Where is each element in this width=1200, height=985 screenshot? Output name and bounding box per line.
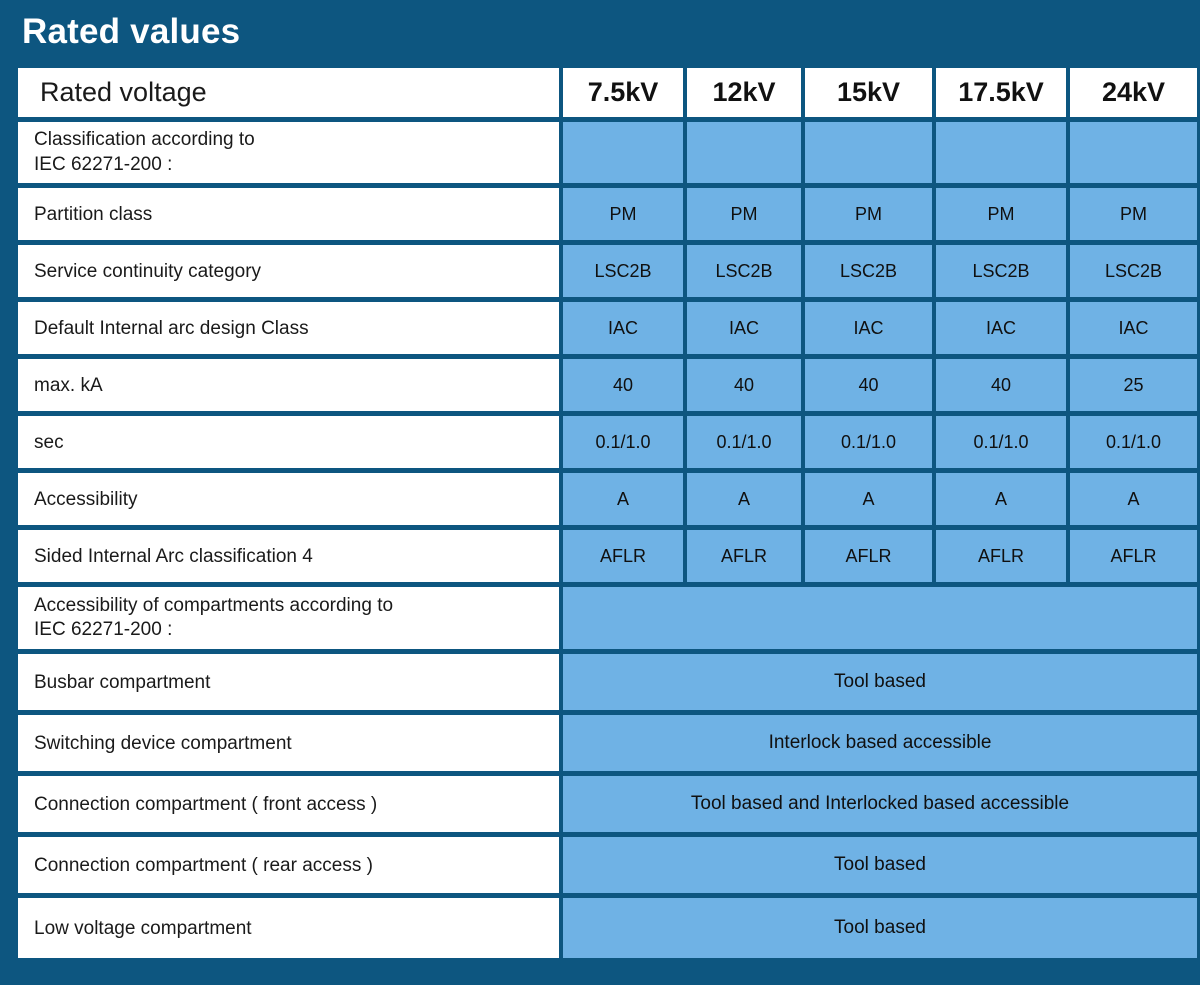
table-row: Partition class PM PM PM PM PM xyxy=(18,188,1197,240)
section-heading-row-accessibility-compartments: Accessibility of compartments according … xyxy=(18,587,1197,649)
cell-connection-front-access-value: Tool based and Interlocked based accessi… xyxy=(563,776,1197,832)
row-label-sec: sec xyxy=(18,416,559,468)
cell-accessibility-1: A xyxy=(563,473,683,525)
cell-max-ka-1: 40 xyxy=(563,359,683,411)
cell-sec-2: 0.1/1.0 xyxy=(687,416,801,468)
page-title: Rated values xyxy=(22,14,240,49)
section-heading-blank-4 xyxy=(936,122,1066,183)
cell-sec-5: 0.1/1.0 xyxy=(1070,416,1197,468)
table-header-row: Rated voltage 7.5kV 12kV 15kV 17.5kV 24k… xyxy=(18,68,1197,117)
section-heading-blank-1 xyxy=(563,122,683,183)
cell-sec-3: 0.1/1.0 xyxy=(805,416,932,468)
table-row: Service continuity category LSC2B LSC2B … xyxy=(18,245,1197,297)
cell-partition-class-4: PM xyxy=(936,188,1066,240)
cell-sided-arc-1: AFLR xyxy=(563,530,683,582)
column-header-2: 12kV xyxy=(687,68,801,117)
section-heading-line-2: IEC 62271-200 : xyxy=(34,153,559,178)
row-label-max-ka: max. kA xyxy=(18,359,559,411)
cell-arc-design-class-1: IAC xyxy=(563,302,683,354)
cell-arc-design-class-2: IAC xyxy=(687,302,801,354)
section-heading-blank-2 xyxy=(687,122,801,183)
cell-sec-4: 0.1/1.0 xyxy=(936,416,1066,468)
table-row: Accessibility A A A A A xyxy=(18,473,1197,525)
table-row: Default Internal arc design Class IAC IA… xyxy=(18,302,1197,354)
cell-max-ka-2: 40 xyxy=(687,359,801,411)
cell-service-continuity-1: LSC2B xyxy=(563,245,683,297)
row-label-connection-compartment-front-access: Connection compartment ( front access ) xyxy=(18,776,559,832)
section2-heading-blank-span xyxy=(563,587,1197,649)
cell-arc-design-class-5: IAC xyxy=(1070,302,1197,354)
section-heading-accessibility-compartments: Accessibility of compartments according … xyxy=(18,587,559,649)
row-label-accessibility: Accessibility xyxy=(18,473,559,525)
column-header-1: 7.5kV xyxy=(563,68,683,117)
cell-service-continuity-2: LSC2B xyxy=(687,245,801,297)
cell-max-ka-5: 25 xyxy=(1070,359,1197,411)
cell-partition-class-5: PM xyxy=(1070,188,1197,240)
cell-arc-design-class-4: IAC xyxy=(936,302,1066,354)
row-label-rated-voltage: Rated voltage xyxy=(18,68,559,117)
table-row: Connection compartment ( rear access ) T… xyxy=(18,837,1197,893)
column-header-3: 15kV xyxy=(805,68,932,117)
row-label-connection-compartment-rear-access: Connection compartment ( rear access ) xyxy=(18,837,559,893)
cell-accessibility-5: A xyxy=(1070,473,1197,525)
table-row: Sided Internal Arc classification 4 AFLR… xyxy=(18,530,1197,582)
cell-accessibility-4: A xyxy=(936,473,1066,525)
cell-partition-class-1: PM xyxy=(563,188,683,240)
cell-accessibility-2: A xyxy=(687,473,801,525)
table-row: Connection compartment ( front access ) … xyxy=(18,776,1197,832)
cell-low-voltage-compartment-value: Tool based xyxy=(563,898,1197,958)
cell-connection-rear-access-value: Tool based xyxy=(563,837,1197,893)
cell-sided-arc-4: AFLR xyxy=(936,530,1066,582)
cell-partition-class-3: PM xyxy=(805,188,932,240)
cell-busbar-compartment-value: Tool based xyxy=(563,654,1197,710)
section-heading-classification: Classification according to IEC 62271-20… xyxy=(18,122,559,183)
table-row: sec 0.1/1.0 0.1/1.0 0.1/1.0 0.1/1.0 0.1/… xyxy=(18,416,1197,468)
table-row: Busbar compartment Tool based xyxy=(18,654,1197,710)
cell-sided-arc-2: AFLR xyxy=(687,530,801,582)
section-heading-line-1: Classification according to xyxy=(34,128,559,153)
panel-title-bar: Rated values xyxy=(14,0,1191,63)
cell-sec-1: 0.1/1.0 xyxy=(563,416,683,468)
section2-heading-line-1: Accessibility of compartments according … xyxy=(34,594,559,619)
cell-sided-arc-5: AFLR xyxy=(1070,530,1197,582)
cell-max-ka-4: 40 xyxy=(936,359,1066,411)
cell-sided-arc-3: AFLR xyxy=(805,530,932,582)
row-label-service-continuity-category: Service continuity category xyxy=(18,245,559,297)
table-row: Switching device compartment Interlock b… xyxy=(18,715,1197,771)
row-label-busbar-compartment: Busbar compartment xyxy=(18,654,559,710)
column-header-5: 24kV xyxy=(1070,68,1197,117)
row-label-switching-device-compartment: Switching device compartment xyxy=(18,715,559,771)
column-header-4: 17.5kV xyxy=(936,68,1066,117)
rated-values-table: Rated voltage 7.5kV 12kV 15kV 17.5kV 24k… xyxy=(14,63,1200,963)
row-label-low-voltage-compartment: Low voltage compartment xyxy=(18,898,559,958)
cell-partition-class-2: PM xyxy=(687,188,801,240)
table-row: max. kA 40 40 40 40 25 xyxy=(18,359,1197,411)
cell-switching-device-compartment-value: Interlock based accessible xyxy=(563,715,1197,771)
section-heading-blank-3 xyxy=(805,122,932,183)
cell-service-continuity-3: LSC2B xyxy=(805,245,932,297)
section-heading-row-classification: Classification according to IEC 62271-20… xyxy=(18,122,1197,183)
cell-arc-design-class-3: IAC xyxy=(805,302,932,354)
rated-values-panel: Rated values Rated voltage 7.5kV 12kV 15… xyxy=(0,0,1200,985)
cell-max-ka-3: 40 xyxy=(805,359,932,411)
section-heading-blank-5 xyxy=(1070,122,1197,183)
cell-accessibility-3: A xyxy=(805,473,932,525)
row-label-partition-class: Partition class xyxy=(18,188,559,240)
table-row: Low voltage compartment Tool based xyxy=(18,898,1197,958)
row-label-sided-internal-arc-classification: Sided Internal Arc classification 4 xyxy=(18,530,559,582)
cell-service-continuity-4: LSC2B xyxy=(936,245,1066,297)
section2-heading-line-2: IEC 62271-200 : xyxy=(34,618,559,643)
row-label-default-internal-arc-design-class: Default Internal arc design Class xyxy=(18,302,559,354)
cell-service-continuity-5: LSC2B xyxy=(1070,245,1197,297)
